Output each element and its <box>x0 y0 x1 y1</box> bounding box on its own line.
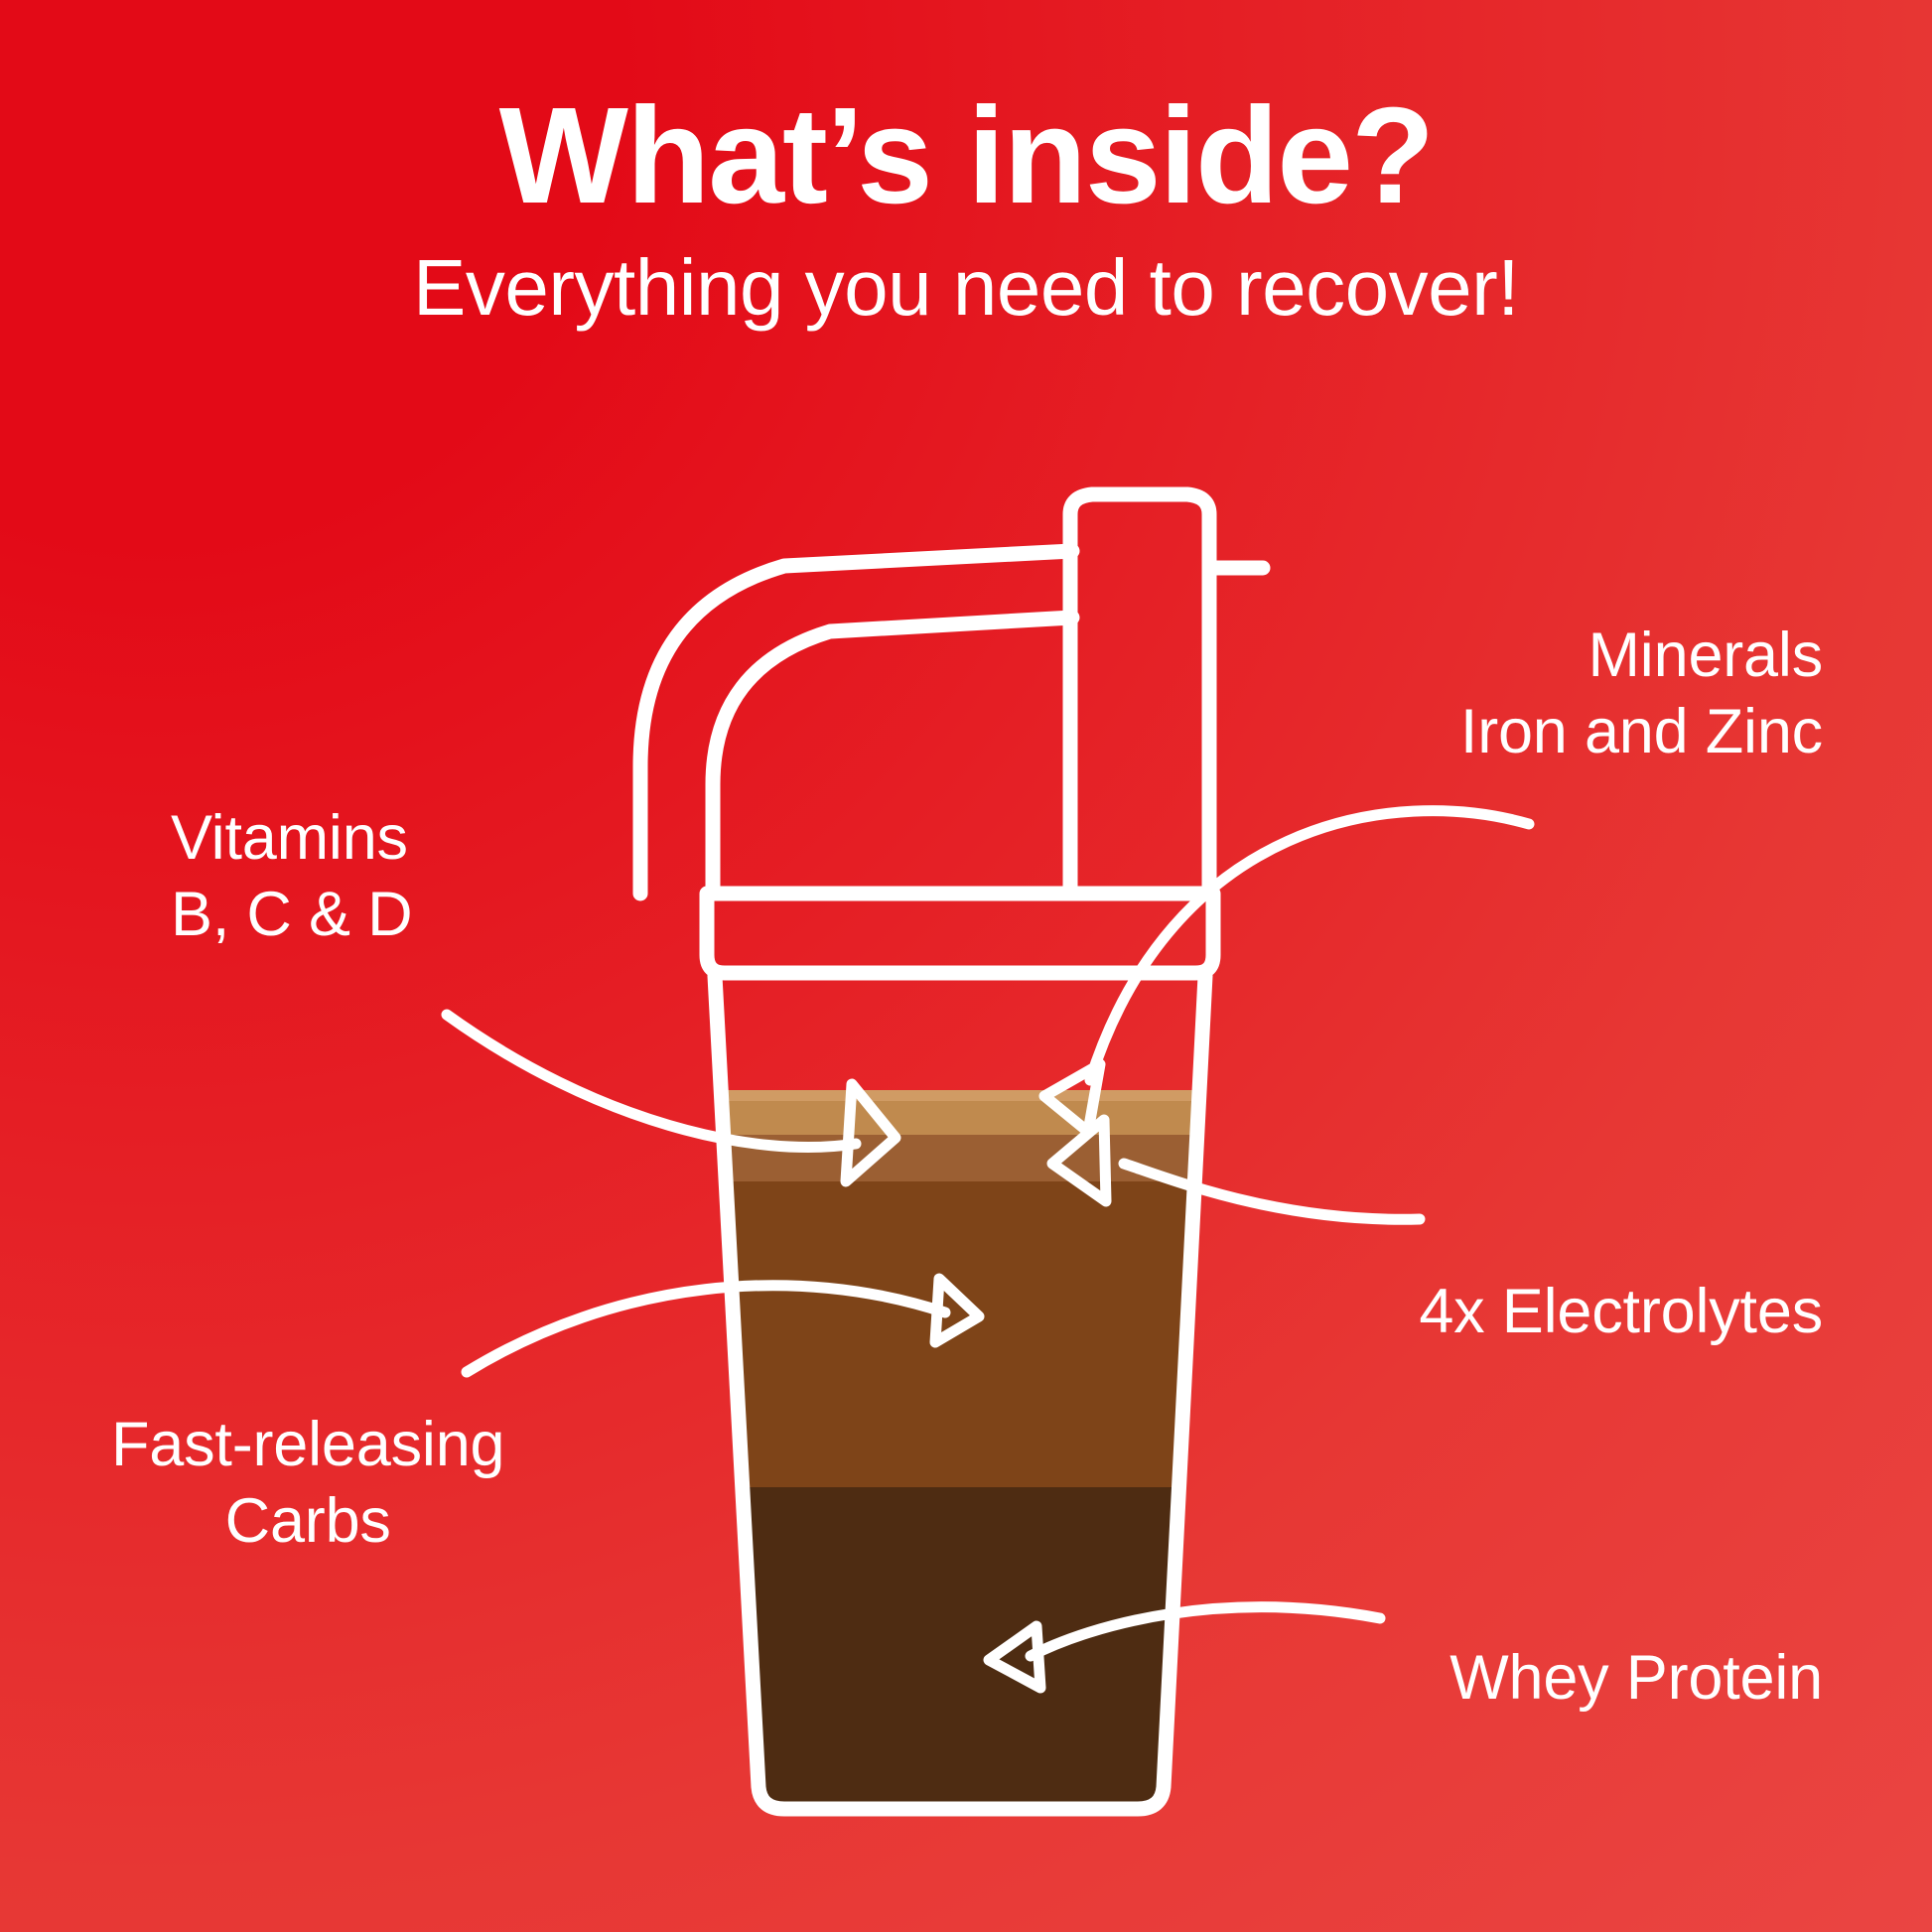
callout-vitamins-line2: B, C & D <box>171 877 412 953</box>
callout-minerals-line2: Iron and Zinc <box>1460 694 1823 770</box>
layer-vitamins <box>695 1101 1231 1136</box>
callout-carbs-line1: Fast-releasing <box>111 1407 504 1483</box>
callout-vitamins-line1: Vitamins <box>171 800 412 877</box>
callout-electrolytes-line1: 4x Electrolytes <box>1419 1274 1823 1350</box>
callout-carbs: Fast-releasing Carbs <box>111 1407 504 1560</box>
pointer-minerals <box>1090 811 1529 1080</box>
layer-carbs <box>695 1181 1231 1489</box>
callout-whey-line1: Whey Protein <box>1449 1640 1823 1717</box>
layer-electrolytes-top <box>695 1090 1231 1102</box>
callout-carbs-line2: Carbs <box>111 1483 504 1560</box>
callout-whey: Whey Protein <box>1449 1640 1823 1717</box>
callout-electrolytes: 4x Electrolytes <box>1419 1274 1823 1350</box>
infographic-poster: What’s inside? Everything you need to re… <box>0 0 1932 1932</box>
callout-vitamins: Vitamins B, C & D <box>171 800 412 953</box>
lid-spout-column <box>1070 494 1209 894</box>
layer-protein <box>695 1487 1231 1825</box>
lid-outer-shoulder <box>640 551 1072 894</box>
callout-minerals-line1: Minerals <box>1460 618 1823 694</box>
liquid-layers <box>695 1090 1231 1825</box>
cup-collar <box>707 894 1213 973</box>
callout-minerals: Minerals Iron and Zinc <box>1460 618 1823 770</box>
lid-inner-shoulder <box>713 618 1072 894</box>
